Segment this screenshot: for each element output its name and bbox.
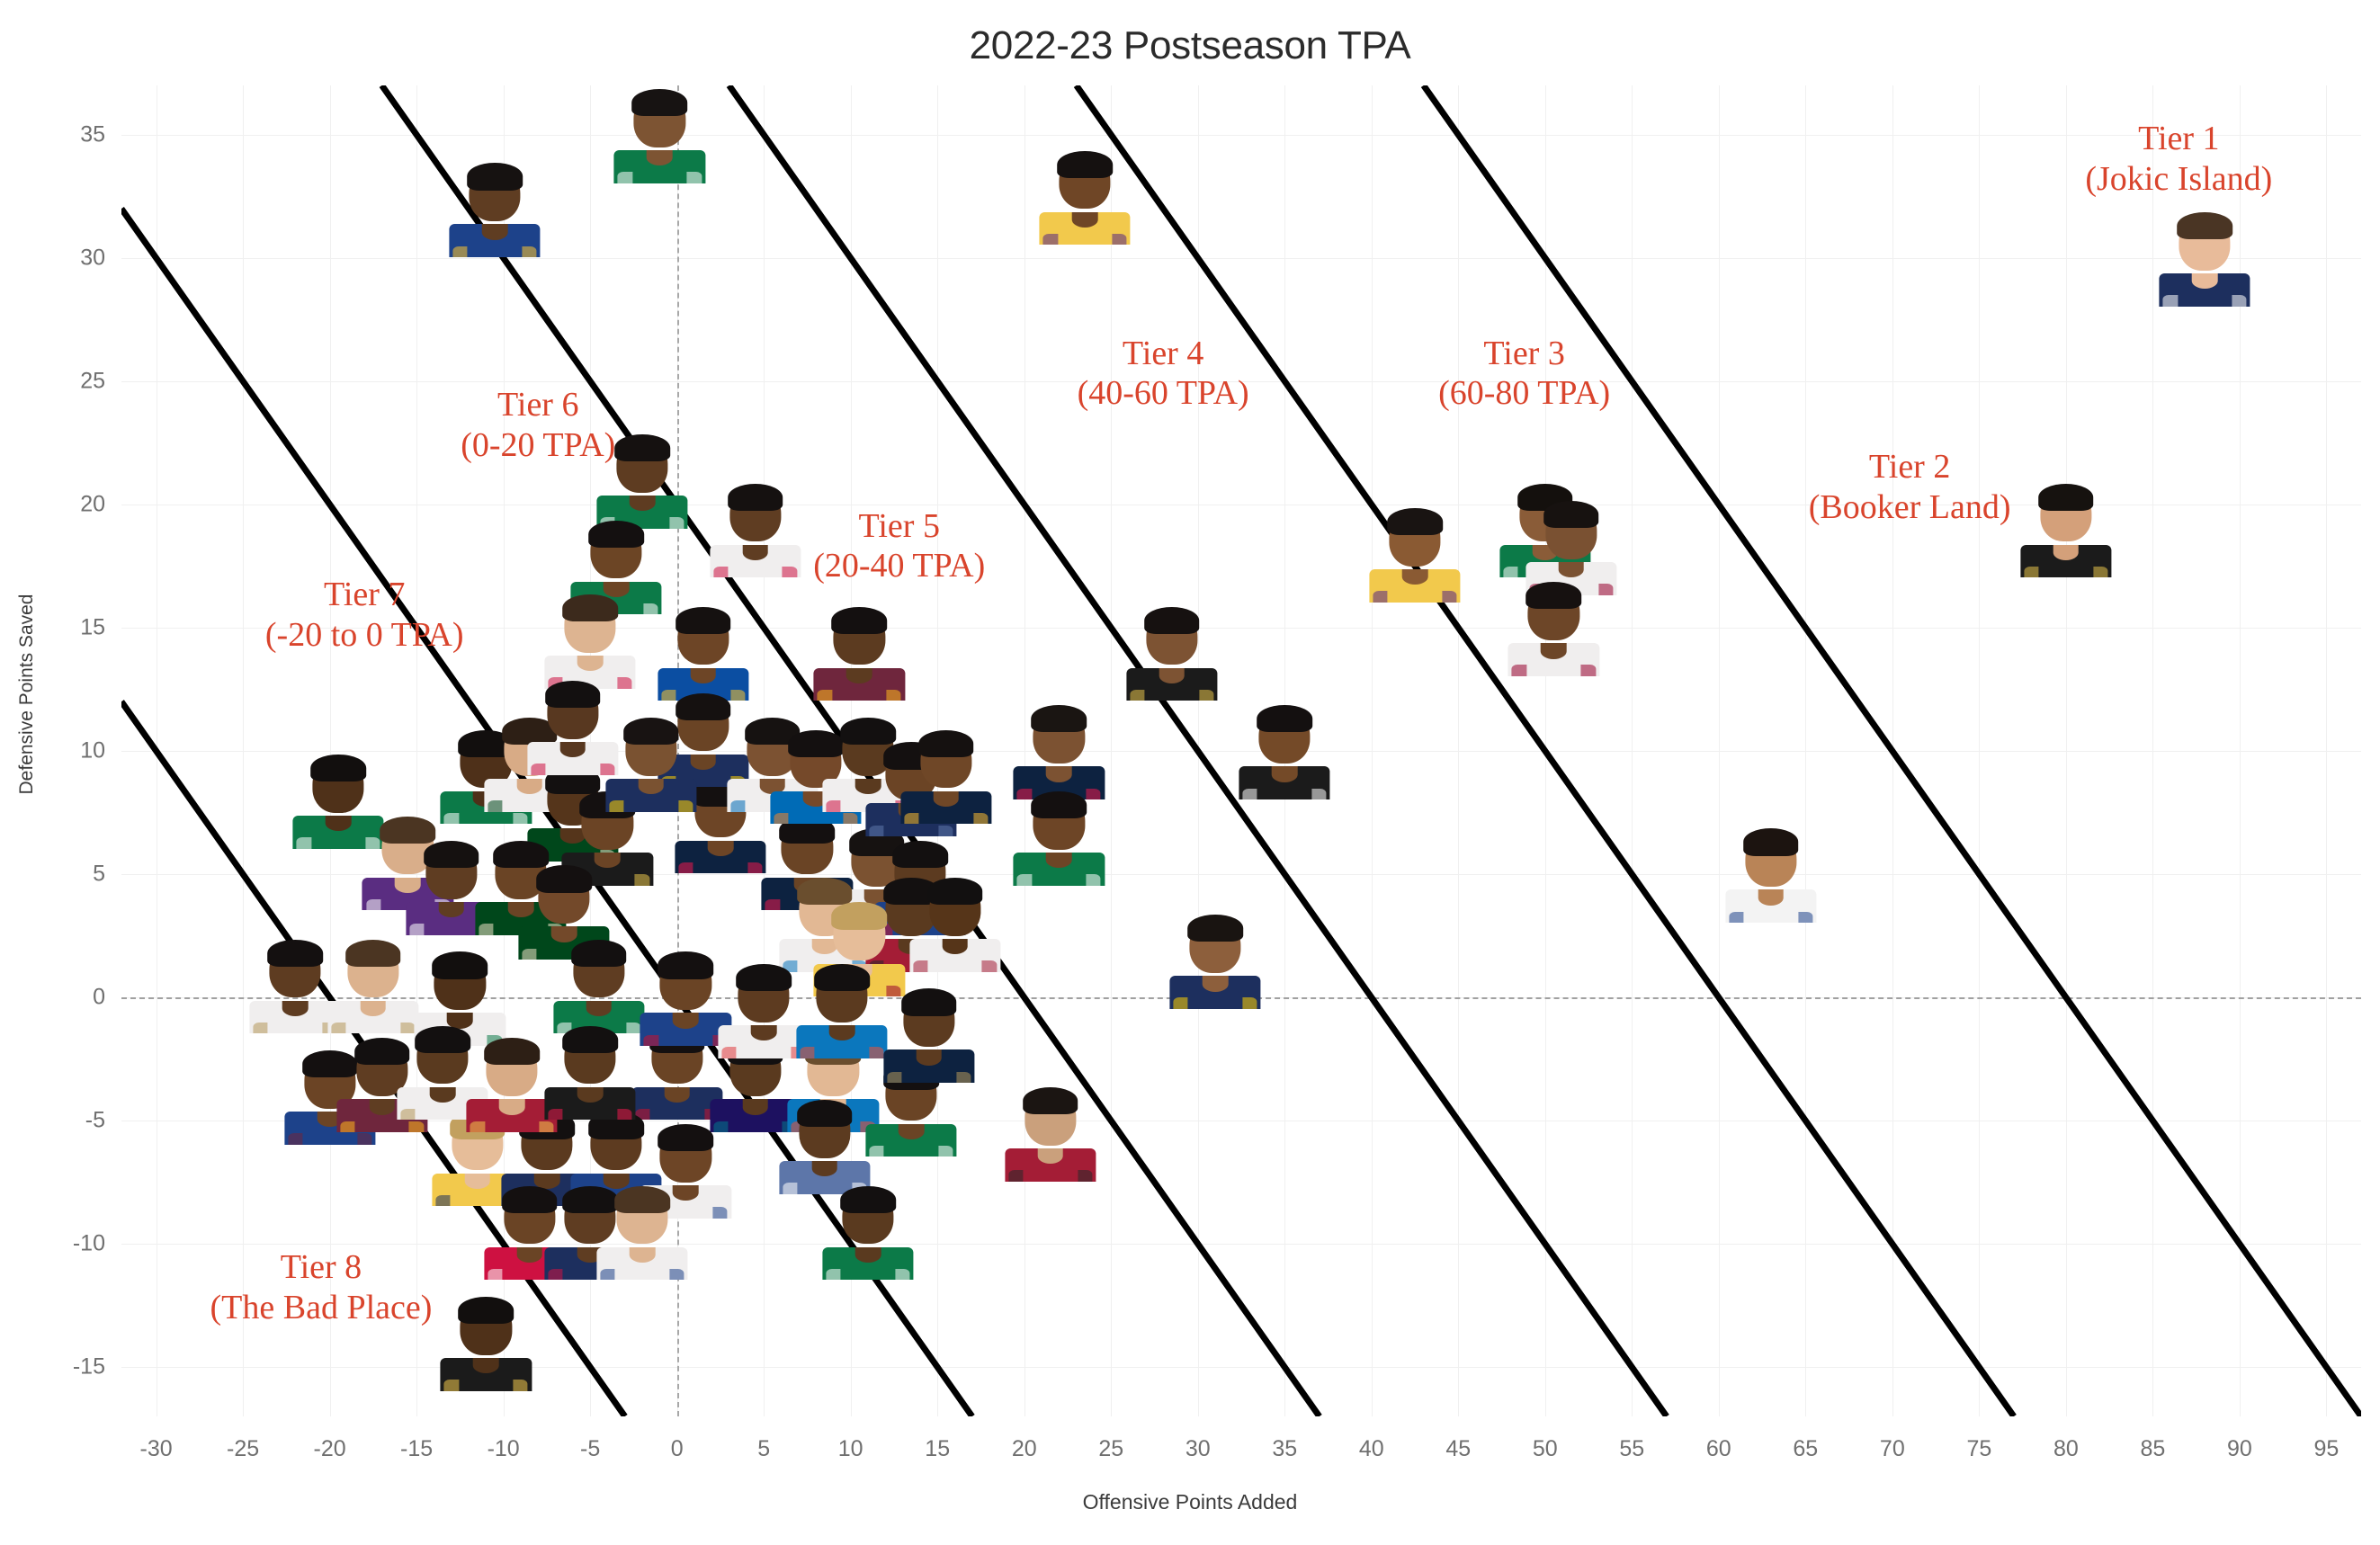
- player-neck: [1272, 766, 1298, 781]
- jersey-shoulder-left: [826, 800, 840, 811]
- player-headshot-marker[interactable]: [819, 1183, 917, 1280]
- player-face: [550, 936, 649, 1033]
- player-neck: [829, 1025, 855, 1040]
- player-neck: [1046, 853, 1072, 868]
- player-neck: [1558, 562, 1584, 577]
- player-hair: [1032, 705, 1087, 732]
- player-headshot-marker[interactable]: [810, 603, 908, 701]
- player-neck: [630, 496, 656, 511]
- player-face: [654, 603, 753, 701]
- player-hair: [459, 1297, 514, 1324]
- jersey-shoulder-right: [522, 246, 536, 257]
- player-headshot-marker[interactable]: [880, 986, 979, 1083]
- player-hair: [2177, 212, 2232, 239]
- player-face: [2155, 210, 2254, 307]
- jersey-shoulder-right: [956, 1072, 971, 1083]
- player-neck: [1758, 889, 1784, 905]
- jersey-shoulder-right: [635, 874, 649, 885]
- player-hair: [1187, 915, 1243, 942]
- jersey-shoulder-right: [669, 1269, 684, 1280]
- jersey-shoulder-left: [818, 690, 832, 701]
- jersey-shoulder-left: [479, 924, 493, 934]
- jersey-shoulder-right: [887, 690, 901, 701]
- jersey-shoulder-left: [366, 899, 380, 910]
- jersey-shoulder-right: [1087, 874, 1101, 885]
- player-face: [1009, 789, 1108, 886]
- player-neck: [473, 1358, 499, 1373]
- tier-boundary-line: [1077, 85, 2014, 1416]
- jersey-shoulder-right: [678, 800, 693, 811]
- jersey-shoulder-left: [1043, 234, 1058, 245]
- jersey-shoulder-left: [783, 1183, 797, 1193]
- jersey-shoulder-right: [1581, 665, 1596, 675]
- player-neck: [934, 791, 960, 807]
- player-headshot-marker[interactable]: [593, 1183, 692, 1280]
- jersey-shoulder-left: [488, 800, 502, 811]
- player-face: [1123, 603, 1221, 701]
- jersey-shoulder-right: [1078, 1170, 1092, 1181]
- y-axis-tick-label: 0: [40, 985, 105, 1011]
- jersey-shoulder-left: [774, 813, 789, 824]
- player-headshot-marker[interactable]: [654, 603, 753, 701]
- jersey-shoulder-right: [1242, 997, 1257, 1008]
- player-neck: [516, 1247, 542, 1263]
- player-hair: [1387, 508, 1443, 535]
- y-axis-tick-label: 5: [40, 862, 105, 888]
- player-hair: [658, 951, 714, 978]
- player-hair: [2038, 484, 2094, 511]
- jersey-shoulder-right: [982, 960, 997, 971]
- player-hair: [658, 1124, 714, 1151]
- player-neck: [482, 224, 508, 239]
- player-hair: [267, 940, 323, 967]
- player-neck: [1203, 976, 1229, 991]
- jersey-shoulder-right: [687, 172, 702, 183]
- jersey-shoulder-right: [973, 813, 988, 824]
- jersey-shoulder-left: [488, 1269, 502, 1280]
- player-hair: [1257, 705, 1312, 732]
- player-headshot-marker[interactable]: [1123, 603, 1221, 701]
- player-headshot-marker[interactable]: [897, 727, 996, 824]
- player-hair: [1144, 607, 1200, 634]
- player-headshot-marker[interactable]: [775, 1097, 874, 1194]
- player-neck: [560, 742, 586, 757]
- jersey-shoulder-left: [288, 1133, 302, 1144]
- jersey-shoulder-left: [800, 1047, 814, 1058]
- player-hair: [562, 594, 618, 621]
- jersey-shoulder-right: [2093, 567, 2107, 577]
- player-face: [1035, 147, 1134, 245]
- player-headshot-marker[interactable]: [1235, 702, 1334, 799]
- jersey-shoulder-left: [1008, 1170, 1023, 1181]
- player-neck: [708, 841, 734, 856]
- player-neck: [742, 1099, 768, 1114]
- player-headshot-marker[interactable]: [610, 86, 709, 183]
- y-axis-tick-label: -15: [40, 1354, 105, 1380]
- player-hair: [676, 607, 731, 634]
- jersey-shoulder-left: [549, 1109, 563, 1120]
- jersey-shoulder-right: [1798, 912, 1812, 923]
- player-face: [1001, 1085, 1100, 1182]
- player-neck: [430, 1087, 456, 1103]
- y-axis-tick-label: 10: [40, 738, 105, 764]
- player-headshot-marker[interactable]: [1009, 789, 1108, 886]
- player-hair: [467, 163, 523, 190]
- player-neck: [673, 1013, 699, 1028]
- jersey-shoulder-right: [669, 517, 684, 528]
- jersey-shoulder-left: [904, 813, 918, 824]
- jersey-shoulder-right: [1113, 234, 1127, 245]
- player-hair: [1743, 828, 1799, 855]
- jersey-shoulder-left: [887, 1072, 901, 1083]
- player-face: [792, 961, 891, 1058]
- y-axis-tick-label: 25: [40, 368, 105, 394]
- player-neck: [1159, 668, 1185, 683]
- player-neck: [751, 1025, 777, 1040]
- player-face: [1009, 702, 1108, 799]
- y-axis-tick-label: 20: [40, 491, 105, 517]
- jersey-shoulder-right: [783, 567, 797, 577]
- player-neck: [942, 939, 968, 954]
- jersey-shoulder-left: [713, 567, 728, 577]
- player-headshot-marker[interactable]: [906, 875, 1005, 972]
- jersey-shoulder-right: [1442, 591, 1456, 602]
- player-face: [593, 1183, 692, 1280]
- jersey-shoulder-left: [331, 1023, 345, 1033]
- player-face: [1365, 505, 1464, 603]
- player-face: [1235, 702, 1334, 799]
- jersey-shoulder-right: [618, 1109, 632, 1120]
- player-hair: [1543, 501, 1599, 528]
- player-headshot-marker[interactable]: [602, 715, 701, 812]
- jersey-shoulder-left: [644, 1035, 658, 1046]
- player-neck: [577, 1087, 604, 1103]
- player-hair: [632, 89, 688, 116]
- jersey-shoulder-left: [913, 960, 927, 971]
- player-neck: [361, 1001, 387, 1016]
- player-neck: [855, 1247, 881, 1263]
- player-headshot-marker[interactable]: [1001, 1085, 1100, 1182]
- player-headshot-marker[interactable]: [1365, 505, 1464, 603]
- player-hair: [433, 951, 488, 978]
- player-neck: [846, 668, 872, 683]
- player-face: [602, 715, 701, 812]
- player-headshot-marker[interactable]: [1722, 826, 1821, 923]
- y-axis-tick-label: -5: [40, 1108, 105, 1134]
- player-hair: [736, 964, 792, 991]
- player-hair: [832, 902, 888, 929]
- player-neck: [899, 1124, 925, 1139]
- jersey-shoulder-left: [401, 1109, 416, 1120]
- player-hair: [892, 841, 948, 868]
- jersey-shoulder-left: [297, 837, 311, 848]
- player-face: [1166, 912, 1265, 1009]
- y-axis-tick-label: -10: [40, 1231, 105, 1257]
- player-headshot-marker[interactable]: [2017, 480, 2116, 577]
- player-hair: [562, 1026, 618, 1053]
- player-hair: [814, 964, 870, 991]
- y-axis-tick-label: 15: [40, 614, 105, 640]
- player-headshot-marker[interactable]: [1035, 147, 1134, 245]
- jersey-shoulder-left: [678, 862, 693, 873]
- jersey-shoulder-right: [939, 826, 953, 836]
- player-hair: [832, 607, 888, 634]
- jersey-shoulder-left: [1503, 567, 1517, 577]
- player-hair: [1526, 582, 1582, 609]
- player-face: [436, 1294, 535, 1391]
- jersey-shoulder-right: [357, 1133, 371, 1144]
- player-hair: [728, 484, 783, 511]
- player-face: [445, 160, 544, 257]
- player-hair: [485, 1038, 541, 1065]
- player-face: [593, 432, 692, 529]
- player-neck: [811, 1161, 837, 1176]
- player-face: [880, 986, 979, 1083]
- jersey-shoulder-left: [870, 826, 884, 836]
- player-hair: [614, 434, 670, 461]
- player-neck: [2192, 273, 2218, 289]
- player-neck: [638, 779, 664, 794]
- player-neck: [1046, 766, 1072, 781]
- player-headshot-marker[interactable]: [792, 961, 891, 1058]
- player-hair: [927, 878, 983, 905]
- jersey-shoulder-right: [939, 1146, 953, 1157]
- player-hair: [536, 865, 592, 892]
- player-hair: [901, 988, 957, 1015]
- player-neck: [630, 1247, 656, 1263]
- jersey-shoulder-left: [523, 949, 537, 960]
- player-neck: [1037, 1148, 1063, 1164]
- player-hair: [571, 940, 627, 967]
- player-hair: [623, 718, 679, 745]
- player-hair: [310, 755, 366, 781]
- player-headshot-marker[interactable]: [541, 592, 640, 689]
- player-headshot-marker[interactable]: [445, 160, 544, 257]
- jersey-shoulder-left: [2163, 295, 2178, 306]
- jersey-shoulder-left: [1243, 789, 1257, 799]
- jersey-shoulder-right: [2232, 295, 2247, 306]
- player-hair: [588, 521, 644, 548]
- chart-canvas: 2022-23 Postseason TPA Tier 1(Jokic Isla…: [0, 0, 2380, 1545]
- player-headshot-marker[interactable]: [324, 936, 423, 1033]
- player-neck: [499, 1099, 525, 1114]
- jersey-shoulder-left: [531, 764, 545, 774]
- jersey-shoulder-left: [435, 1195, 450, 1206]
- player-headshot-marker[interactable]: [1166, 912, 1265, 1009]
- jersey-shoulder-left: [1017, 874, 1032, 885]
- player-neck: [664, 1087, 690, 1103]
- jersey-shoulder-left: [1512, 665, 1526, 675]
- player-neck: [369, 1099, 395, 1114]
- jersey-shoulder-right: [895, 1269, 909, 1280]
- x-axis-label: Offensive Points Added: [0, 1490, 2380, 1514]
- scatter-plot-area: Tier 1(Jokic Island)Tier 2(Booker Land)T…: [121, 85, 2361, 1416]
- jersey-shoulder-right: [1312, 789, 1327, 799]
- player-headshot-marker[interactable]: [706, 480, 805, 577]
- player-neck: [2053, 545, 2080, 560]
- player-neck: [438, 902, 464, 917]
- player-neck: [1072, 212, 1098, 228]
- player-face: [541, 1023, 640, 1120]
- jersey-shoulder-right: [843, 813, 857, 824]
- player-hair: [840, 1186, 896, 1213]
- player-hair: [797, 1100, 853, 1127]
- jersey-shoulder-left: [730, 800, 745, 811]
- player-headshot-marker[interactable]: [550, 936, 649, 1033]
- player-face: [775, 1097, 874, 1194]
- player-headshot-marker[interactable]: [1009, 702, 1108, 799]
- jersey-shoulder-left: [1173, 997, 1187, 1008]
- player-neck: [647, 150, 673, 165]
- jersey-shoulder-left: [409, 924, 424, 934]
- y-axis-label: Defensive Points Saved: [16, 559, 38, 829]
- player-face: [906, 875, 1005, 972]
- player-neck: [1541, 643, 1567, 658]
- y-axis-tick-label: 30: [40, 245, 105, 271]
- jersey-shoulder-right: [540, 1121, 554, 1132]
- player-face: [324, 936, 423, 1033]
- jersey-shoulder-left: [601, 1269, 615, 1280]
- player-hair: [345, 940, 401, 967]
- jersey-shoulder-left: [1373, 591, 1387, 602]
- player-neck: [916, 1049, 942, 1065]
- player-hair: [614, 1186, 670, 1213]
- jersey-shoulder-right: [1199, 690, 1213, 701]
- jersey-shoulder-right: [514, 1380, 528, 1390]
- player-neck: [690, 668, 716, 683]
- player-hair: [1057, 151, 1113, 178]
- player-hair: [918, 730, 974, 757]
- jersey-shoulder-left: [826, 1269, 840, 1280]
- player-face: [819, 1183, 917, 1280]
- player-face: [541, 592, 640, 689]
- player-hair: [1032, 791, 1087, 818]
- jersey-shoulder-left: [470, 1121, 485, 1132]
- y-axis-tick-label: 35: [40, 121, 105, 147]
- player-face: [2017, 480, 2116, 577]
- jersey-shoulder-left: [444, 1380, 459, 1390]
- player-hair: [1023, 1087, 1078, 1114]
- player-headshot-marker[interactable]: [541, 1023, 640, 1120]
- player-hair: [545, 681, 601, 708]
- x-axis-tick-label: 95: [2272, 1436, 2380, 1462]
- page-title: 2022-23 Postseason TPA: [0, 23, 2380, 68]
- player-neck: [577, 656, 604, 671]
- player-face: [706, 480, 805, 577]
- jersey-shoulder-left: [452, 246, 467, 257]
- jersey-shoulder-left: [2024, 567, 2038, 577]
- player-neck: [282, 1001, 309, 1016]
- player-neck: [1402, 569, 1428, 585]
- player-neck: [742, 545, 768, 560]
- jersey-shoulder-left: [549, 1269, 563, 1280]
- jersey-shoulder-left: [340, 1121, 354, 1132]
- jersey-shoulder-right: [409, 1121, 424, 1132]
- player-face: [610, 86, 709, 183]
- jersey-shoulder-left: [1729, 912, 1743, 923]
- jersey-shoulder-left: [1130, 690, 1144, 701]
- jersey-shoulder-left: [253, 1023, 267, 1033]
- player-headshot-marker[interactable]: [2155, 210, 2254, 307]
- player-face: [1722, 826, 1821, 923]
- player-face: [810, 603, 908, 701]
- player-headshot-marker[interactable]: [1504, 579, 1603, 676]
- jersey-shoulder-right: [713, 1207, 728, 1218]
- player-headshot-marker[interactable]: [436, 1294, 535, 1391]
- player-face: [897, 727, 996, 824]
- player-face: [1504, 579, 1603, 676]
- jersey-shoulder-left: [618, 172, 632, 183]
- player-neck: [326, 816, 352, 831]
- player-neck: [586, 1001, 613, 1016]
- jersey-shoulder-left: [722, 1047, 737, 1058]
- jersey-shoulder-left: [609, 800, 623, 811]
- player-headshot-marker[interactable]: [593, 432, 692, 529]
